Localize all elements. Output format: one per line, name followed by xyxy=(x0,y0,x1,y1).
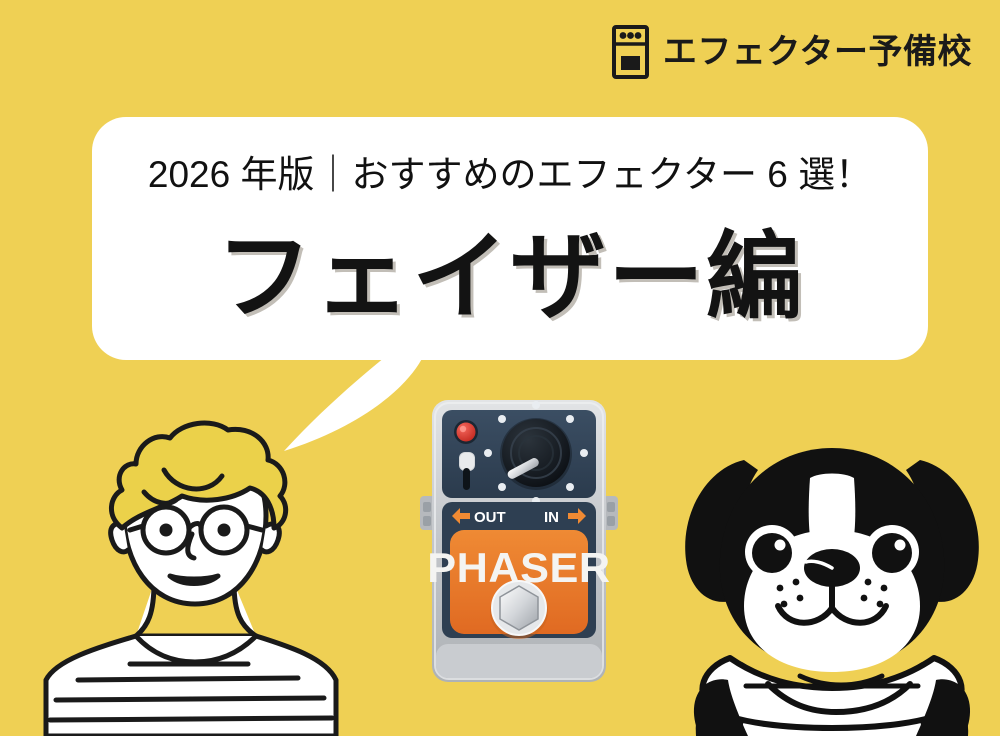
page-title: フェイザー編 xyxy=(92,199,928,338)
phaser-pedal[interactable]: OUT IN PHASER xyxy=(418,392,620,690)
logo-text: エフェクター予備校 xyxy=(663,35,972,69)
poster-canvas: エフェクター予備校 2026 年版｜おすすめのエフェクター 6 選！ フェイザー… xyxy=(0,0,1000,736)
guitar-pedal-icon xyxy=(612,25,649,79)
subtitle-text: 2026 年版｜おすすめのエフェクター 6 選！ xyxy=(92,144,928,198)
french-bulldog xyxy=(672,432,1000,736)
in-label: IN xyxy=(544,509,559,526)
speech-bubble: 2026 年版｜おすすめのエフェクター 6 選！ フェイザー編 xyxy=(92,117,928,360)
site-logo[interactable]: エフェクター予備校 xyxy=(612,25,972,79)
red-led-indicator xyxy=(454,420,478,444)
out-label: OUT xyxy=(474,509,506,526)
speech-bubble-tail xyxy=(250,345,430,455)
person-with-glasses xyxy=(36,408,356,736)
hex-footswitch xyxy=(490,581,548,639)
